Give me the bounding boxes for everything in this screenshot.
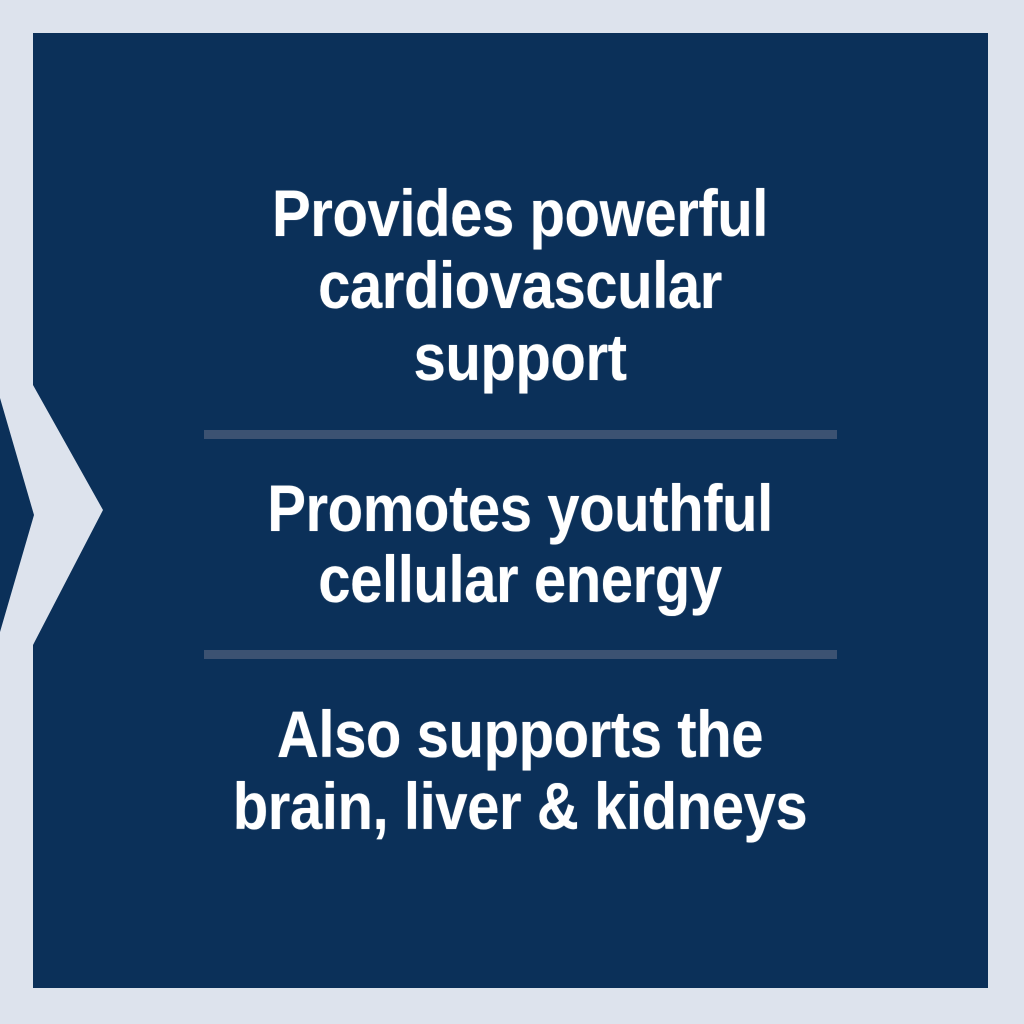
- benefits-card: Provides powerful cardiovascular support…: [0, 0, 1024, 1024]
- benefit-divider-1: [204, 430, 837, 439]
- chevron-right-icon: [0, 398, 34, 632]
- benefit-item-1: Provides powerful cardiovascular support: [212, 178, 828, 394]
- benefit-item-2: Promotes youthful cellular energy: [212, 473, 828, 617]
- benefits-list: Provides powerful cardiovascular support…: [170, 33, 870, 988]
- benefit-item-3: Also supports the brain, liver & kidneys: [212, 699, 828, 843]
- benefit-divider-2: [204, 650, 837, 659]
